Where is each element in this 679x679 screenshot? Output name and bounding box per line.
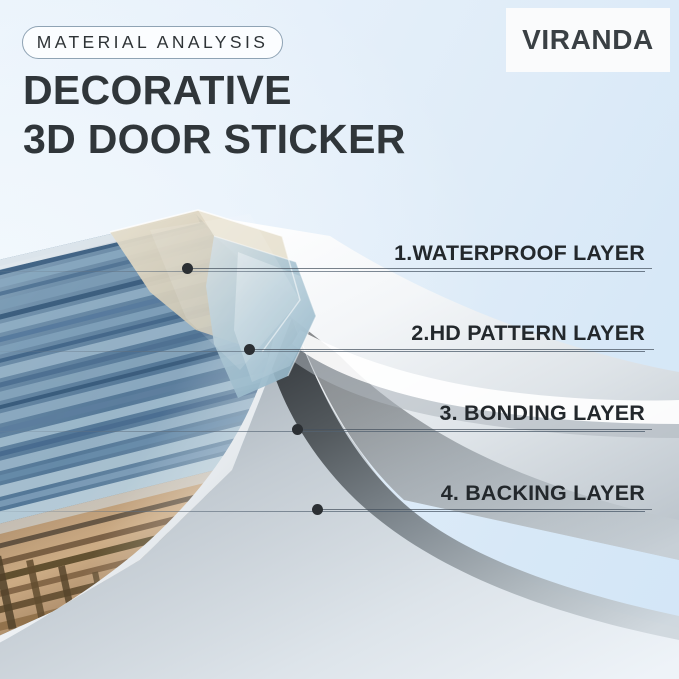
page-title-line-2: 3D DOOR STICKER	[23, 115, 406, 164]
leader-line-2	[254, 349, 654, 350]
anchor-dot-3	[292, 424, 303, 435]
callout-underline-3	[0, 431, 645, 432]
poster-canvas: MATERIAL ANALYSIS DECORATIVE 3D DOOR STI…	[0, 0, 679, 679]
brand-logo-text: VIRANDA	[522, 24, 654, 56]
page-title-line-1: DECORATIVE	[23, 67, 292, 113]
anchor-dot-2	[244, 344, 255, 355]
badge-label: MATERIAL ANALYSIS	[37, 32, 269, 53]
callout-underline-1	[0, 271, 645, 272]
leader-line-4	[322, 509, 652, 510]
page-title: DECORATIVE 3D DOOR STICKER	[23, 66, 406, 164]
anchor-dot-4	[312, 504, 323, 515]
anchor-dot-1	[182, 263, 193, 274]
callout-label-3: 3. BONDING LAYER	[440, 401, 646, 426]
leader-line-1	[192, 268, 652, 269]
leader-line-3	[302, 429, 652, 430]
callout-layer-2: 2.HD PATTERN LAYER	[0, 316, 645, 352]
callout-label-1: 1.WATERPROOF LAYER	[394, 241, 645, 266]
callout-layer-3: 3. BONDING LAYER	[0, 396, 645, 432]
brand-logo: VIRANDA	[506, 8, 670, 72]
badge-material-analysis: MATERIAL ANALYSIS	[22, 26, 283, 59]
callout-underline-2	[0, 351, 645, 352]
callout-label-4: 4. BACKING LAYER	[441, 481, 645, 506]
callout-layer-1: 1.WATERPROOF LAYER	[0, 236, 645, 272]
callout-label-2: 2.HD PATTERN LAYER	[411, 321, 645, 346]
